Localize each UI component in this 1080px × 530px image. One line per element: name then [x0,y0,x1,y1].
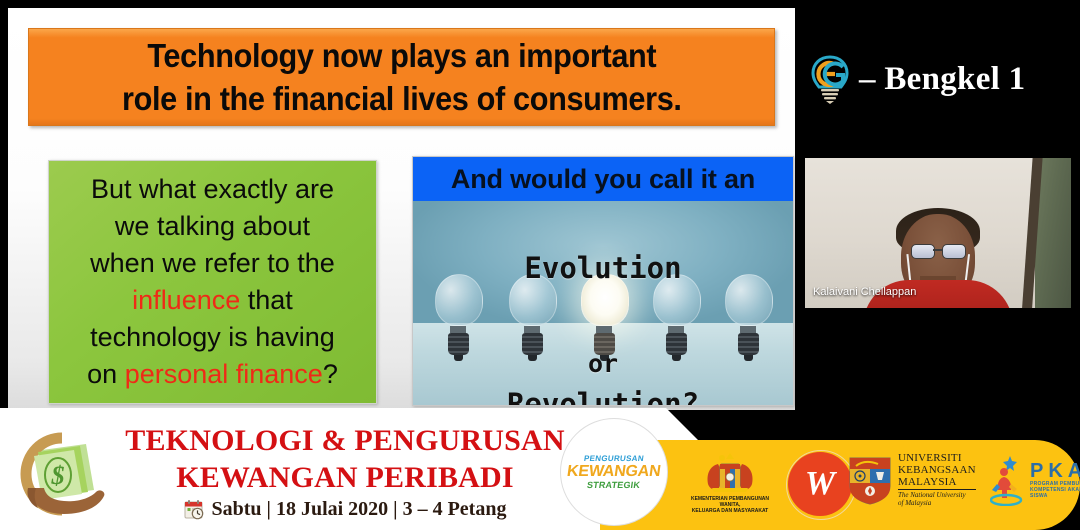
evolution-word: Evolution [413,251,793,285]
video-feed: Kalaivani Chellappan [805,158,1071,308]
lightbulb-eg-icon [807,53,853,105]
green-line-1: But what exactly are [91,174,334,204]
green-question-text: But what exactly are we talking about wh… [79,171,346,393]
headline-text: Technology now plays an important role i… [122,34,681,120]
sponsor-banner: PENGURUSAN KEWANGAN STRATEGIK [600,440,1080,530]
green-highlight-personal-finance: personal finance [125,359,323,389]
green-line-4: that [240,285,293,315]
participant-name-label: Kalaivani Chellappan [813,286,916,298]
green-highlight-influence: influence [132,285,240,315]
session-title: – Bengkel 1 [859,61,1025,98]
ministry-logo: KEMENTERIAN PEMBANGUNAN WANITA, KELUARGA… [685,450,775,514]
lightbulb-icon [653,274,699,361]
or-word: or [413,349,793,378]
green-line-5: technology is having [90,322,335,352]
green-line-3: when we refer to the [90,248,335,278]
green-line-2: we talking about [115,211,310,241]
ukm-tagline: The National University of Malaysia [898,489,976,507]
pks-line-2: KEWANGAN [566,463,662,480]
evolution-caption-bar: And would you call it an [413,157,793,201]
eyeglass-right [942,244,966,259]
shared-slide-area: Technology now plays an important role i… [8,8,795,410]
pkas-logo: PKAS PROGRAM PEMBUDAYAAN KOMPETENSI AKAD… [990,454,1080,506]
w-seal-letter: W [805,465,835,503]
event-date-text: Sabtu | 18 Julai 2020 | 3 – 4 Petang [212,498,507,521]
ukm-logo: UNIVERSITI KEBANGSAAN MALAYSIA The Natio… [848,452,996,507]
eyeglass-bridge [933,249,943,251]
webcam-tile[interactable]: Kalaivani Chellappan [805,148,1071,410]
pkas-expansion: PROGRAM PEMBUDAYAAN KOMPETENSI AKADEMIK … [1030,481,1080,499]
green-question-card: But what exactly are we talking about wh… [48,160,377,404]
slide-content: Technology now plays an important role i… [8,8,795,410]
evolution-image-card: And would you call it an [412,156,794,406]
pkas-acronym: PKAS [1030,461,1080,481]
w-seal-icon: W [788,452,852,516]
pks-line-3: STRATEGIK [587,480,642,490]
event-date-row: Sabtu | 18 Julai 2020 | 3 – 4 Petang [110,498,580,521]
eyeglass-left [911,244,935,259]
evolution-caption-text: And would you call it an [451,164,755,195]
green-line-6a: on [87,359,125,389]
right-panel: – Bengkel 1 Kalaivani Chellappan [795,0,1080,412]
session-title-bar: – Bengkel 1 [795,48,1080,110]
pkas-text-block: PKAS PROGRAM PEMBUDAYAAN KOMPETENSI AKAD… [1030,461,1080,499]
hand-holding-money-icon: $ [12,426,108,522]
lightbulb-icon [725,274,771,361]
pks-logo: PENGURUSAN KEWANGAN STRATEGIK [560,418,668,526]
svg-text:$: $ [51,461,65,490]
malaysia-coat-of-arms-icon [698,450,762,494]
lightbulb-icon [509,274,555,361]
pkas-figure-icon [990,454,1024,506]
green-line-6b: ? [323,359,338,389]
ukm-name-block: UNIVERSITI KEBANGSAAN MALAYSIA The Natio… [898,452,976,507]
lit-cfl-bulb-icon [581,274,627,361]
presentation-screen: Technology now plays an important role i… [0,0,1080,530]
event-title: TEKNOLOGI & PENGURUSAN KEWANGAN PERIBADI [110,422,580,496]
headline-banner: Technology now plays an important role i… [28,28,775,126]
revolution-word: Revolution? [413,387,793,406]
ukm-shield-icon [848,454,892,506]
ministry-caption: KEMENTERIAN PEMBANGUNAN WANITA, KELUARGA… [685,496,775,514]
lightbulb-icon [435,274,481,361]
pks-line-1: PENGURUSAN [583,454,644,463]
lightbulbs-photo: Evolution or Revolution? [413,201,793,405]
calendar-clock-icon [184,499,205,520]
ukm-name: UNIVERSITI KEBANGSAAN MALAYSIA [898,452,976,488]
